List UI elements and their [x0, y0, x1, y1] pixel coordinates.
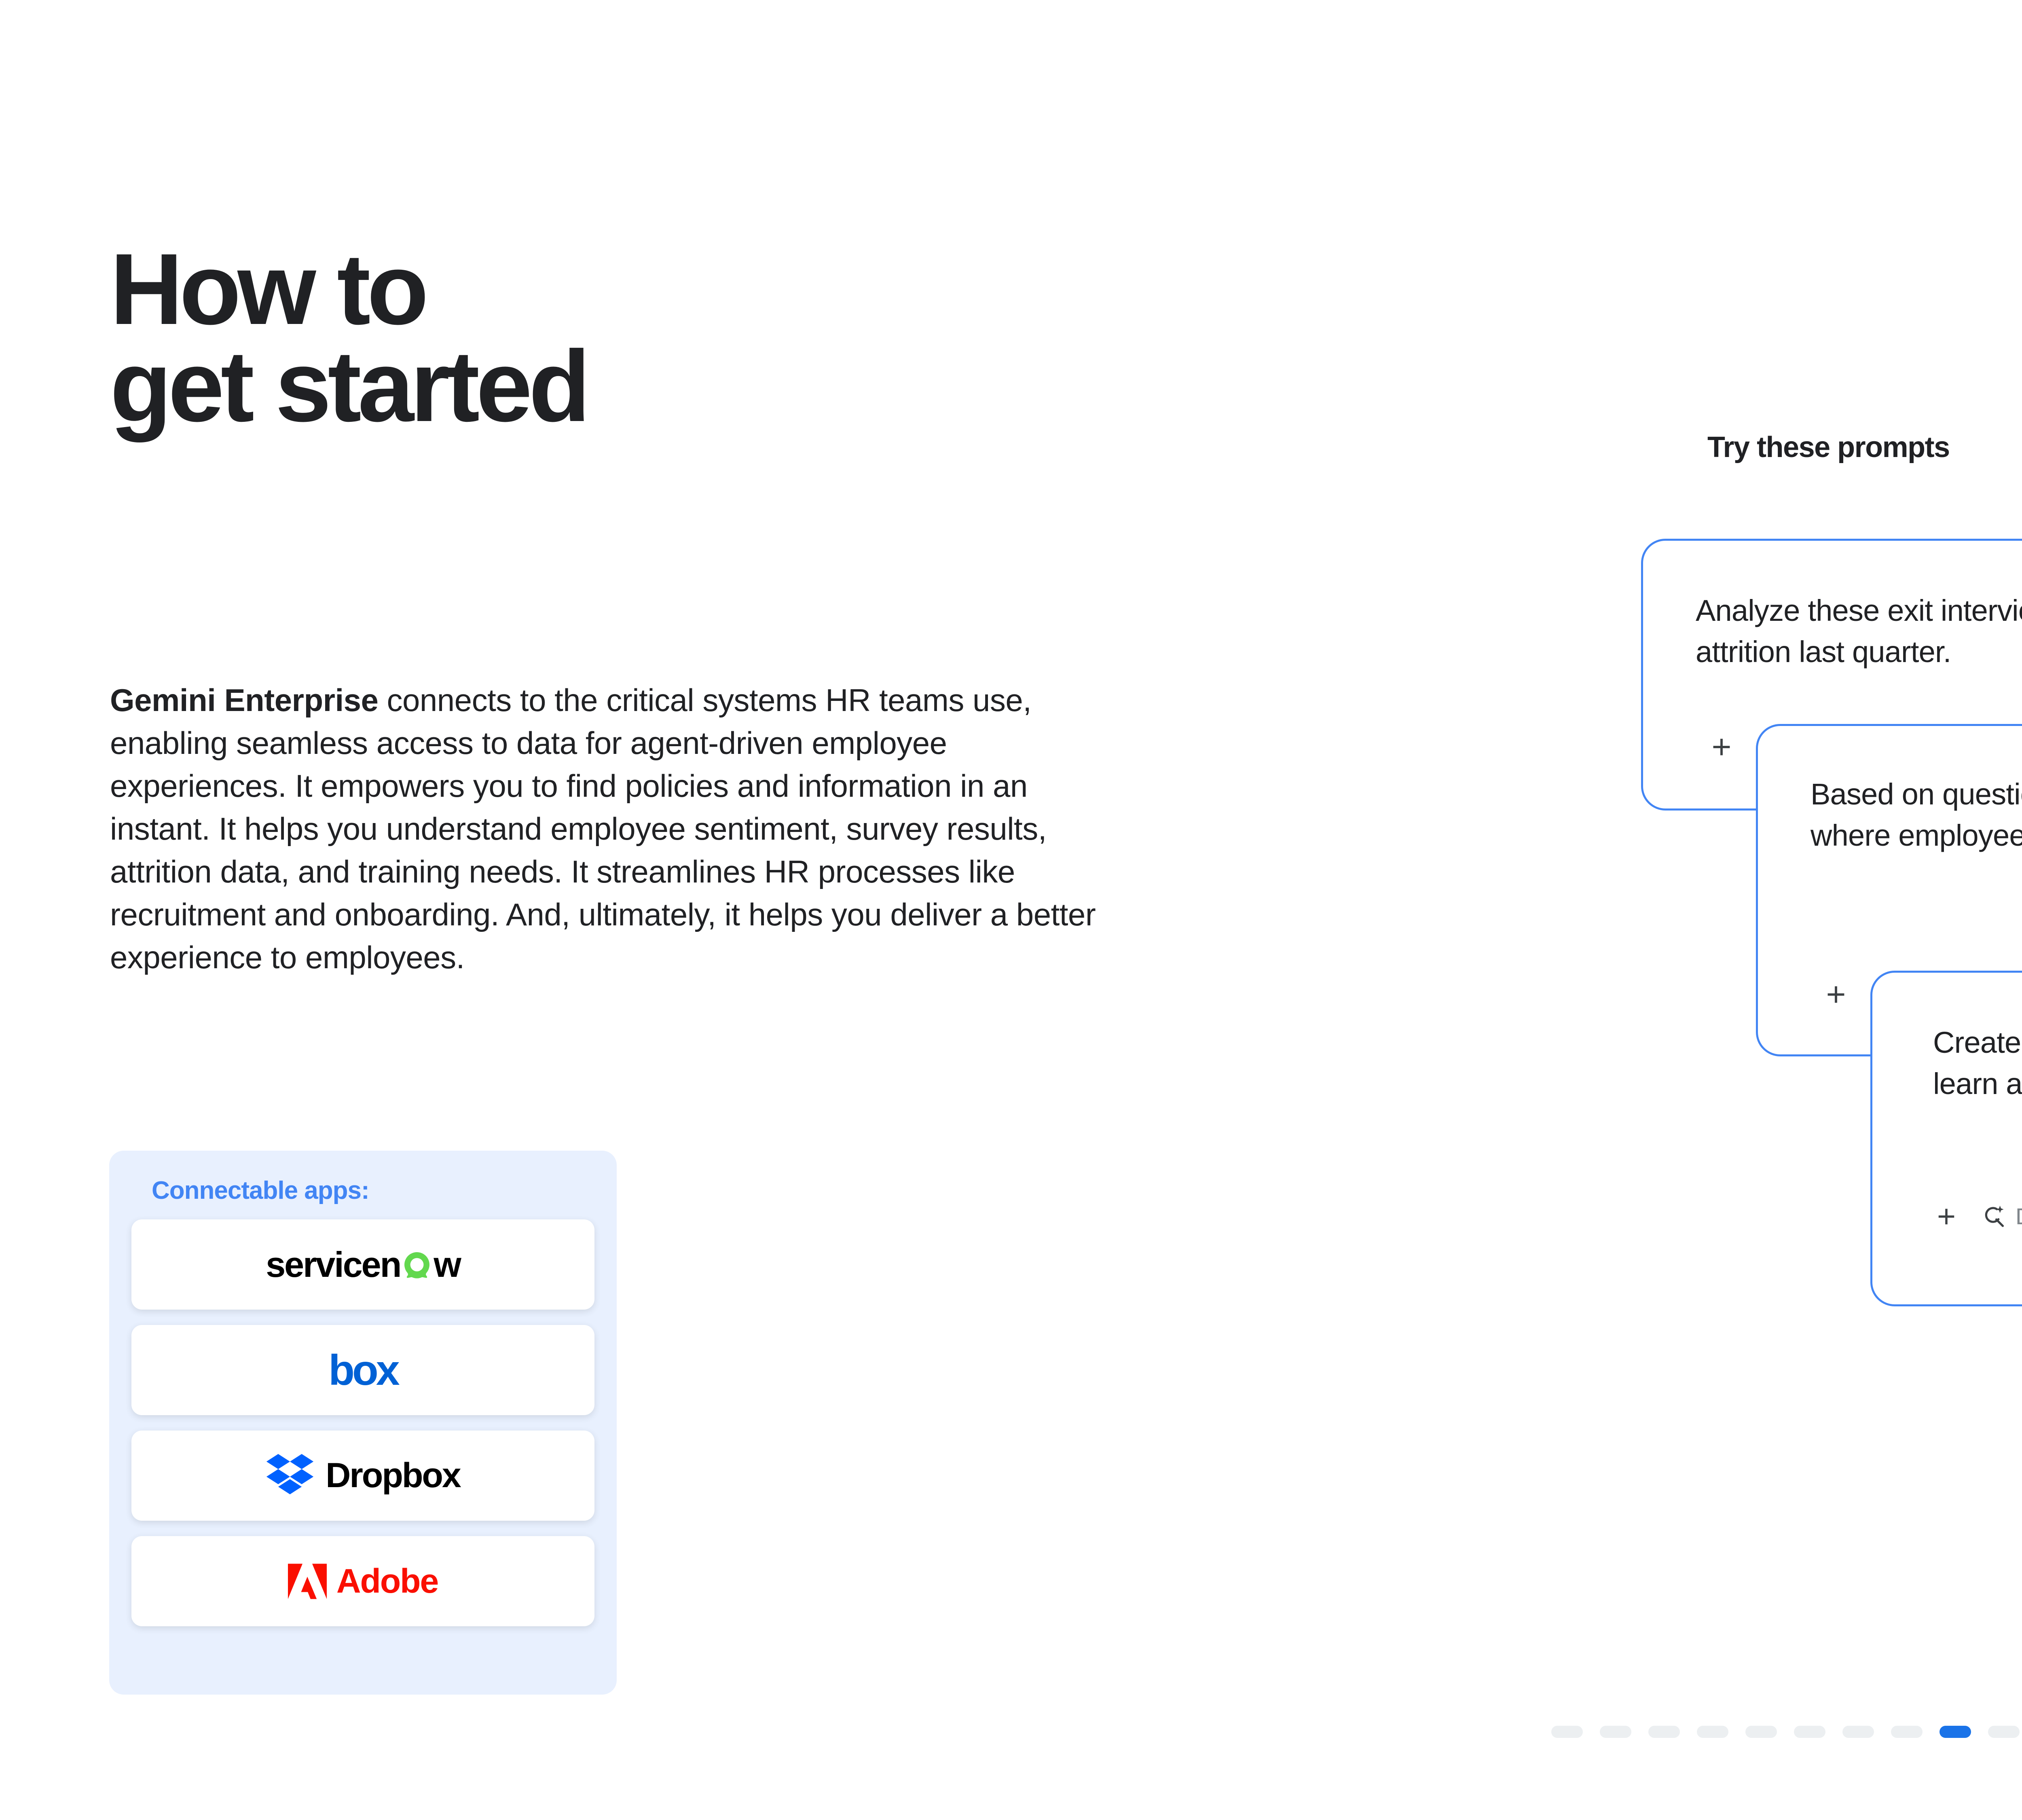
- prompt-card-2-add-button[interactable]: [1822, 980, 1850, 1009]
- slide-dot[interactable]: [1745, 1726, 1777, 1738]
- try-these-prompts-heading: Try these prompts: [1707, 431, 1950, 464]
- app-card-adobe[interactable]: Adobe: [131, 1536, 594, 1626]
- connectable-apps-title: Connectable apps:: [152, 1176, 594, 1205]
- slide-dot-active[interactable]: [1940, 1726, 1971, 1738]
- prompt-card-3[interactable]: Create a personalized learning and devel…: [1870, 971, 2022, 1306]
- deep-research-icon: [1981, 1203, 2007, 1230]
- page-title: How to get started: [110, 241, 1323, 435]
- prompt-card-3-text: Create a personalized learning and devel…: [1933, 1022, 2022, 1105]
- add-attachment-button[interactable]: [1933, 1203, 1960, 1230]
- slide-dot[interactable]: [1600, 1726, 1631, 1738]
- app-card-servicenow[interactable]: servicenw: [131, 1219, 594, 1310]
- deep-research-label: Deep Research: [2016, 1203, 2022, 1230]
- plus-icon: [1933, 1203, 1960, 1230]
- slide-dot[interactable]: [1648, 1726, 1680, 1738]
- servicenow-text-b: n: [380, 1244, 401, 1285]
- slide-dot[interactable]: [1551, 1726, 1583, 1738]
- slide-dot[interactable]: [1988, 1726, 2020, 1738]
- body-lead-bold: Gemini Enterprise: [110, 682, 378, 718]
- slide-dot[interactable]: [1794, 1726, 1825, 1738]
- prompt-card-2-text: Based on questions asked in the HR helpd…: [1810, 774, 2022, 856]
- prompt-card-1-text: Analyze these exit interviews and summar…: [1696, 590, 2022, 673]
- app-card-box[interactable]: box: [131, 1325, 594, 1415]
- prompt-card-1-add-button[interactable]: [1707, 733, 1736, 761]
- dropbox-wordmark: Dropbox: [326, 1456, 460, 1496]
- box-logo: box: [328, 1349, 397, 1392]
- connectable-apps-panel: Connectable apps: servicenw box: [109, 1151, 617, 1695]
- dropbox-logo: [266, 1454, 314, 1498]
- slide-dot[interactable]: [1891, 1726, 1923, 1738]
- deep-research-button[interactable]: Deep Research: [1981, 1203, 2022, 1230]
- servicenow-text-a: service: [266, 1244, 380, 1285]
- body-paragraph: Gemini Enterprise connects to the critic…: [110, 679, 1121, 979]
- servicenow-o-mark: [402, 1249, 432, 1280]
- app-card-dropbox[interactable]: Dropbox: [131, 1431, 594, 1521]
- servicenow-text-c: w: [434, 1244, 460, 1285]
- adobe-wordmark: Adobe: [336, 1562, 438, 1601]
- adobe-logo: [288, 1564, 327, 1599]
- page-title-line1: How to: [110, 233, 425, 345]
- slide-dot[interactable]: [1697, 1726, 1728, 1738]
- slide-dot[interactable]: [1842, 1726, 1874, 1738]
- page-title-line2: get started: [110, 338, 1323, 435]
- plus-icon: [1707, 733, 1736, 761]
- servicenow-logo: servicenw: [266, 1244, 460, 1285]
- prompt-card-3-toolbar: Deep Research Web search: [1933, 1203, 2022, 1230]
- plus-icon: [1822, 980, 1850, 1009]
- slide-progress-dots: [1551, 1726, 2020, 1738]
- body-rest: connects to the critical systems HR team…: [110, 682, 1096, 975]
